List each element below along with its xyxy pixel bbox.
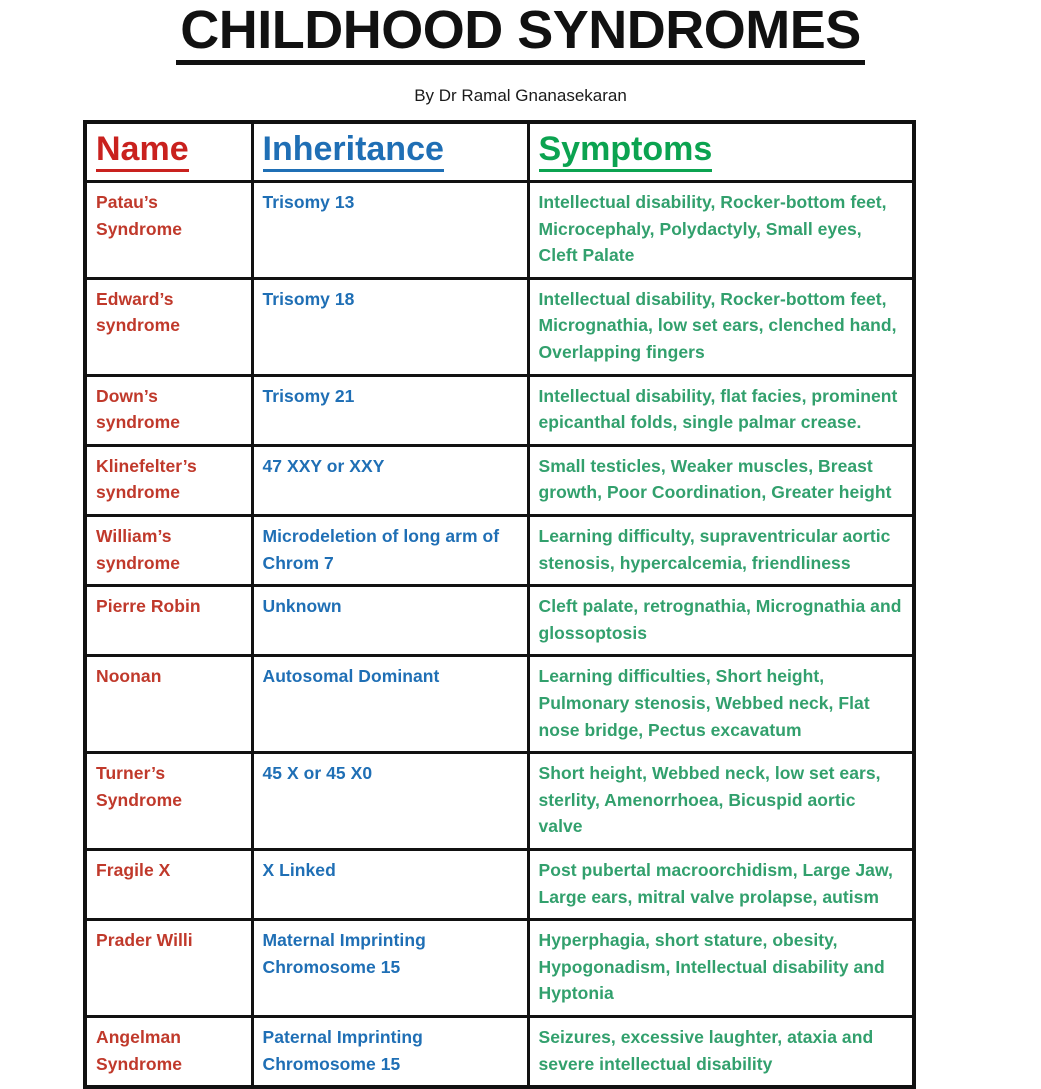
table-row: Down’s syndrome Trisomy 21 Intellectual … bbox=[85, 375, 914, 445]
cell-inheritance: Microdeletion of long arm of Chrom 7 bbox=[252, 516, 528, 586]
cell-symptoms: Seizures, excessive laughter, ataxia and… bbox=[528, 1016, 914, 1087]
cell-inheritance: Maternal Imprinting Chromosome 15 bbox=[252, 920, 528, 1017]
author-subtitle: By Dr Ramal Gnanasekaran bbox=[0, 87, 1041, 106]
cell-name: Fragile X bbox=[85, 849, 252, 919]
table-row: Noonan Autosomal Dominant Learning diffi… bbox=[85, 656, 914, 753]
cell-inheritance: Unknown bbox=[252, 586, 528, 656]
table-row: Angelman Syndrome Paternal Imprinting Ch… bbox=[85, 1016, 914, 1087]
cell-name: Noonan bbox=[85, 656, 252, 753]
syndromes-table: Name Inheritance Symptoms Patau’s Syndro… bbox=[83, 120, 916, 1089]
table-row: Turner’s Syndrome 45 X or 45 X0 Short he… bbox=[85, 753, 914, 850]
cell-inheritance: Trisomy 21 bbox=[252, 375, 528, 445]
table-row: William’s syndrome Microdeletion of long… bbox=[85, 516, 914, 586]
table-header: Name Inheritance Symptoms bbox=[85, 122, 914, 182]
document-page: CHILDHOOD SYNDROMES By Dr Ramal Gnanasek… bbox=[0, 0, 1041, 1063]
cell-inheritance: Paternal Imprinting Chromosome 15 bbox=[252, 1016, 528, 1087]
cell-symptoms: Intellectual disability, flat facies, pr… bbox=[528, 375, 914, 445]
cell-inheritance: 47 XXY or XXY bbox=[252, 445, 528, 515]
column-header-inheritance-label: Inheritance bbox=[263, 130, 444, 172]
table-row: Edward’s syndrome Trisomy 18 Intellectua… bbox=[85, 278, 914, 375]
table-row: Pierre Robin Unknown Cleft palate, retro… bbox=[85, 586, 914, 656]
cell-name: Pierre Robin bbox=[85, 586, 252, 656]
cell-symptoms: Short height, Webbed neck, low set ears,… bbox=[528, 753, 914, 850]
cell-inheritance: Trisomy 13 bbox=[252, 182, 528, 279]
column-header-inheritance: Inheritance bbox=[252, 122, 528, 182]
cell-name: Turner’s Syndrome bbox=[85, 753, 252, 850]
cell-symptoms: Post pubertal macroorchidism, Large Jaw,… bbox=[528, 849, 914, 919]
cell-symptoms: Intellectual disability, Rocker-bottom f… bbox=[528, 278, 914, 375]
column-header-name-label: Name bbox=[96, 130, 189, 172]
cell-symptoms: Learning difficulty, supraventricular ao… bbox=[528, 516, 914, 586]
column-header-name: Name bbox=[85, 122, 252, 182]
cell-symptoms: Cleft palate, retrognathia, Micrognathia… bbox=[528, 586, 914, 656]
cell-name: Klinefelter’s syndrome bbox=[85, 445, 252, 515]
page-title: CHILDHOOD SYNDROMES bbox=[176, 2, 865, 65]
cell-name: Edward’s syndrome bbox=[85, 278, 252, 375]
cell-name: Prader Willi bbox=[85, 920, 252, 1017]
syndromes-table-wrapper: Name Inheritance Symptoms Patau’s Syndro… bbox=[83, 120, 916, 1089]
table-row: Fragile X X Linked Post pubertal macroor… bbox=[85, 849, 914, 919]
table-row: Prader Willi Maternal Imprinting Chromos… bbox=[85, 920, 914, 1017]
cell-symptoms: Hyperphagia, short stature, obesity, Hyp… bbox=[528, 920, 914, 1017]
table-body: Patau’s Syndrome Trisomy 13 Intellectual… bbox=[85, 182, 914, 1088]
table-row: Klinefelter’s syndrome 47 XXY or XXY Sma… bbox=[85, 445, 914, 515]
column-header-symptoms: Symptoms bbox=[528, 122, 914, 182]
cell-symptoms: Intellectual disability, Rocker-bottom f… bbox=[528, 182, 914, 279]
title-block: CHILDHOOD SYNDROMES By Dr Ramal Gnanasek… bbox=[0, 0, 1041, 106]
table-header-row: Name Inheritance Symptoms bbox=[85, 122, 914, 182]
cell-name: Patau’s Syndrome bbox=[85, 182, 252, 279]
cell-symptoms: Small testicles, Weaker muscles, Breast … bbox=[528, 445, 914, 515]
cell-name: William’s syndrome bbox=[85, 516, 252, 586]
cell-inheritance: Trisomy 18 bbox=[252, 278, 528, 375]
table-row: Patau’s Syndrome Trisomy 13 Intellectual… bbox=[85, 182, 914, 279]
cell-name: Angelman Syndrome bbox=[85, 1016, 252, 1087]
cell-inheritance: 45 X or 45 X0 bbox=[252, 753, 528, 850]
column-header-symptoms-label: Symptoms bbox=[539, 130, 713, 172]
cell-symptoms: Learning difficulties, Short height, Pul… bbox=[528, 656, 914, 753]
cell-inheritance: X Linked bbox=[252, 849, 528, 919]
cell-name: Down’s syndrome bbox=[85, 375, 252, 445]
cell-inheritance: Autosomal Dominant bbox=[252, 656, 528, 753]
